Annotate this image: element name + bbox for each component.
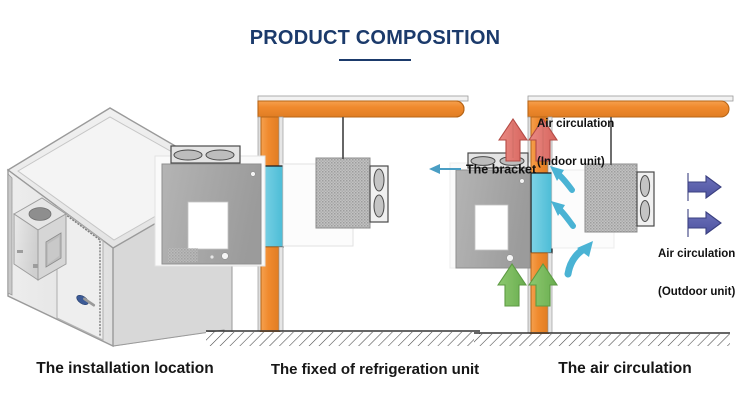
- wall-insulation-section: [531, 173, 552, 253]
- bracket-label-text: The bracket: [466, 163, 537, 177]
- outdoor-air-circulation-line1: Air circulation: [658, 248, 735, 261]
- ground-hatch: [474, 333, 730, 346]
- condenser-fan-icon: [29, 208, 51, 221]
- indoor-unit[interactable]: [155, 146, 265, 266]
- outdoor-unit[interactable]: [283, 158, 388, 246]
- panel-caption-installation: The installation location: [0, 360, 250, 378]
- outdoor-fan-icon: [640, 176, 649, 197]
- page-title: PRODUCT COMPOSITION: [0, 28, 750, 48]
- title-underline-rule: [339, 59, 411, 61]
- indoor-air-circulation-label: Air circulation (Indoor unit): [537, 92, 614, 182]
- indoor-fan-icon: [174, 150, 202, 160]
- indoor-air-circulation-line2: (Indoor unit): [537, 156, 614, 169]
- indoor-fan-icon-2: [206, 150, 234, 160]
- bracket-left-arrow-icon: [429, 164, 461, 174]
- outdoor-fan-icon-2: [640, 201, 649, 222]
- through-wall-curve-low: [568, 249, 584, 274]
- panel-caption-air-circulation: The air circulation: [500, 360, 750, 378]
- outdoor-air-circulation-line2: (Outdoor unit): [658, 286, 735, 299]
- outdoor-exhaust-arrow-top: [688, 173, 721, 201]
- condensing-unit[interactable]: [14, 197, 66, 280]
- ground-hatch: [206, 331, 480, 346]
- panel-caption-fixed-unit: The fixed of refrigeration unit: [250, 361, 500, 378]
- indoor-air-circulation-line1: Air circulation: [537, 118, 614, 131]
- indoor-return-arrow-left: [498, 264, 526, 306]
- outdoor-fan-icon: [374, 169, 384, 191]
- condenser-coil: [316, 158, 370, 228]
- outdoor-air-circulation-label: Air circulation (Outdoor unit): [658, 222, 735, 312]
- ceiling-panel: [258, 96, 468, 117]
- bracket-label: The bracket: [428, 132, 520, 192]
- outdoor-fan-icon-2: [374, 195, 384, 217]
- header: PRODUCT COMPOSITION: [0, 28, 750, 61]
